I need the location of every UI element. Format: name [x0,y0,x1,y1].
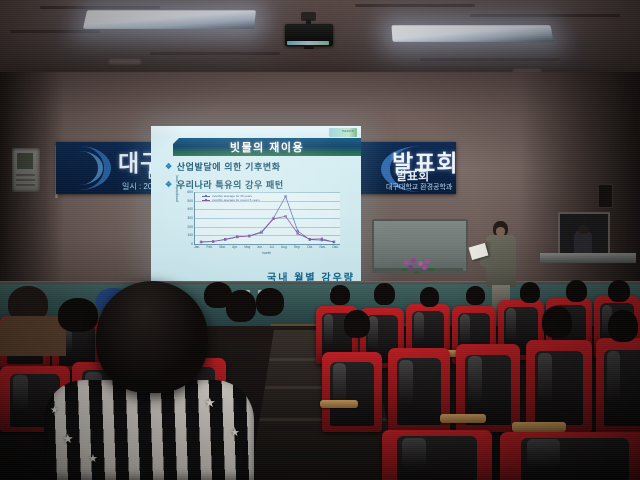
chart-x-tick: Jan. [194,245,200,249]
chart-y-ticks: 0100200300400500600 [179,192,193,244]
slide-bullet-1: ❖ 산업발달에 의한 기후변화 [165,160,355,173]
precipitation-chart: precipitation (mm) 0100200300400500600 m… [177,192,343,260]
chart-y-tick: 400 [187,207,193,211]
auditorium-photo: 대구대 대구 일시 : 2009. 11. 20 발표회 발표회 대구대학교 환… [0,0,640,480]
seat [500,432,640,480]
booth-technician-head [578,225,589,234]
bullet-diamond-icon-2: ❖ [165,180,173,189]
ceiling-light-right [391,25,553,42]
slide-bullet-2: ❖ 우리나라 특유의 강우 패턴 [165,178,355,191]
chart-y-tick: 200 [187,225,193,229]
chart-x-tick: Jul. [269,245,274,249]
chart-y-tick: 500 [187,199,193,203]
slide-title-bar: 빗물의 재이용 [173,138,361,156]
seat [382,430,492,480]
seat [526,340,592,432]
wall-speaker [598,184,613,208]
chart-x-ticks: Jan.Feb.Mar.Apr.MayJun.Jul.Aug.Sep.Oct.N… [194,245,339,249]
seat [596,338,640,434]
projection-screen: PAROS 빗물의 재이용 ❖ 산업발달에 의한 기후변화 ❖ 우리나라 특유의… [151,126,361,288]
armrest [512,422,566,432]
armrest [440,414,486,423]
chart-series-layer [195,192,340,244]
chart-x-tick: Jun. [257,245,263,249]
slide-logo-text: PAROS [342,129,354,133]
striped-star-hoodie: ★ ★ ★ ★ ★ [44,380,254,480]
chart-line-series-1 [201,216,334,242]
front-audience-head [96,281,208,393]
chart-x-tick: May [244,245,250,249]
chart-y-tick: 300 [187,216,193,220]
chart-x-tick: Mar. [219,245,225,249]
chart-y-tick: 0 [191,242,193,246]
chart-x-axis-label: month [194,251,339,255]
flower-arrangement [398,258,438,276]
ceiling-light-left [83,10,256,29]
presentation-slide: PAROS 빗물의 재이용 ❖ 산업발달에 의한 기후변화 ❖ 우리나라 특유의… [151,126,361,288]
booth-desk [540,253,636,263]
chart-y-tick: 100 [187,233,193,237]
slide-title: 빗물의 재이용 [230,139,304,155]
chart-x-tick: Apr. [232,245,238,249]
wall-poster [12,148,40,192]
chart-line-series-0 [201,196,334,242]
chart-x-tick: Sep. [294,245,301,249]
projection-booth [558,212,610,258]
chart-x-tick: Oct. [307,245,313,249]
seat [322,352,382,432]
chart-y-tick: 600 [187,190,193,194]
armrest [320,400,358,408]
slide-bullet-list: ❖ 산업발달에 의한 기후변화 ❖ 우리나라 특유의 강우 패턴 [165,160,355,196]
chart-x-tick: Feb. [207,245,213,249]
slide-bullet-1-text: 산업발달에 의한 기후변화 [177,160,281,173]
chart-x-tick: Aug. [281,245,288,249]
chart-plot-area: monthly average for 30 years monthly ave… [194,192,340,245]
chart-x-tick: Dec. [332,245,339,249]
chart-x-tick: Nov. [319,245,325,249]
bullet-diamond-icon: ❖ [165,162,173,171]
projector-icon [283,12,335,48]
banner-department: 대구대학교 환경공학과 [386,182,452,192]
